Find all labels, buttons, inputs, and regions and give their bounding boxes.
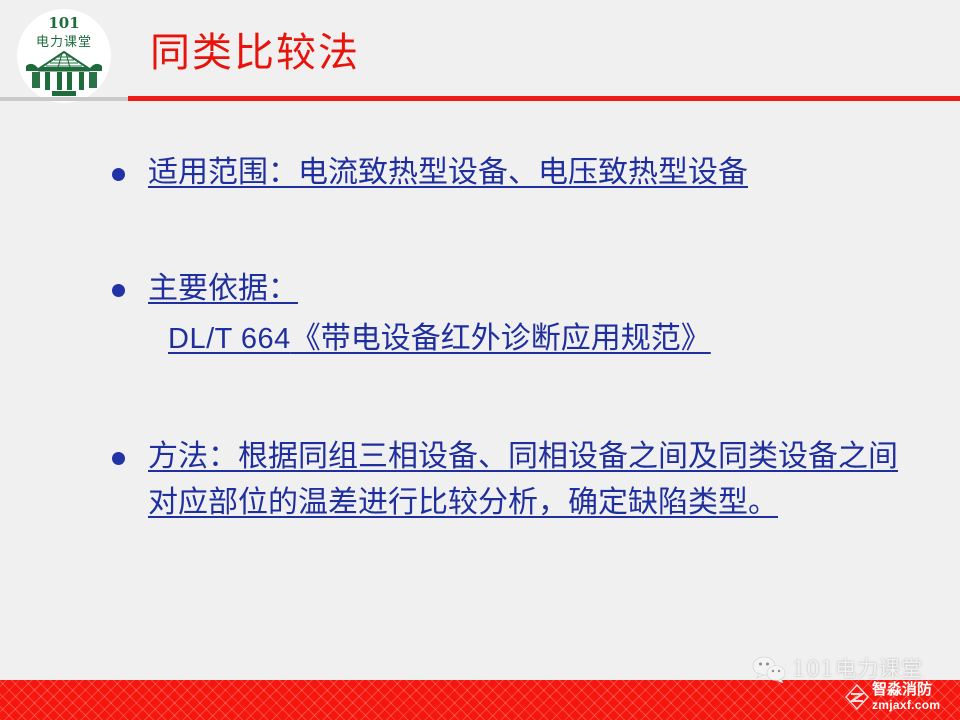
svg-text:101: 101 bbox=[48, 14, 79, 32]
bullet-item: 主要依据： bbox=[0, 266, 960, 312]
footer-brand: 101电力课堂 bbox=[752, 655, 923, 683]
course-logo: 101 电力课堂 bbox=[12, 6, 116, 106]
wechat-icon bbox=[752, 655, 786, 683]
watermark-title: 智淼消防 bbox=[872, 682, 940, 697]
bullet-item: 方法：根据同组三相设备、同相设备之间及同类设备之间对应部位的温差进行比较分析，确… bbox=[0, 434, 960, 526]
bullet-text: 适用范围：电流致热型设备、电压致热型设备 bbox=[148, 155, 748, 190]
header-divider-red bbox=[128, 96, 960, 101]
bullet-text: 方法：根据同组三相设备、同相设备之间及同类设备之间对应部位的温差进行比较分析，确… bbox=[148, 439, 898, 520]
bullet-sub-line: DL/T 664《带电设备红外诊断应用规范》 bbox=[0, 316, 960, 362]
standard-code: DL/T 664 bbox=[168, 323, 291, 355]
bullet-marker-icon bbox=[112, 452, 125, 465]
bullet-text: 主要依据： bbox=[148, 271, 298, 306]
watermark-url: zmjaxf.com bbox=[872, 699, 940, 711]
watermark-texts: 智淼消防 zmjaxf.com bbox=[872, 682, 940, 711]
standard-title: 《带电设备红外诊断应用规范》 bbox=[291, 321, 711, 356]
bullet-item: 适用范围：电流致热型设备、电压致热型设备 bbox=[0, 150, 960, 196]
slide-header: 101 电力课堂 bbox=[0, 0, 960, 108]
footer-brand-label: 101电力课堂 bbox=[792, 657, 923, 681]
slide-body: 适用范围：电流致热型设备、电压致热型设备 主要依据： DL/T 664《带电设备… bbox=[0, 150, 960, 526]
bullet-marker-icon bbox=[112, 284, 125, 297]
slide-root: 101 电力课堂 bbox=[0, 0, 960, 720]
footer-red-band bbox=[0, 680, 960, 720]
svg-text:电力课堂: 电力课堂 bbox=[36, 35, 92, 50]
watermark: 智淼消防 zmjaxf.com bbox=[845, 682, 940, 711]
page-title: 同类比较法 bbox=[150, 29, 360, 77]
bullet-marker-icon bbox=[112, 168, 125, 181]
header-divider-gray bbox=[0, 97, 129, 101]
watermark-logo-icon bbox=[845, 684, 869, 710]
